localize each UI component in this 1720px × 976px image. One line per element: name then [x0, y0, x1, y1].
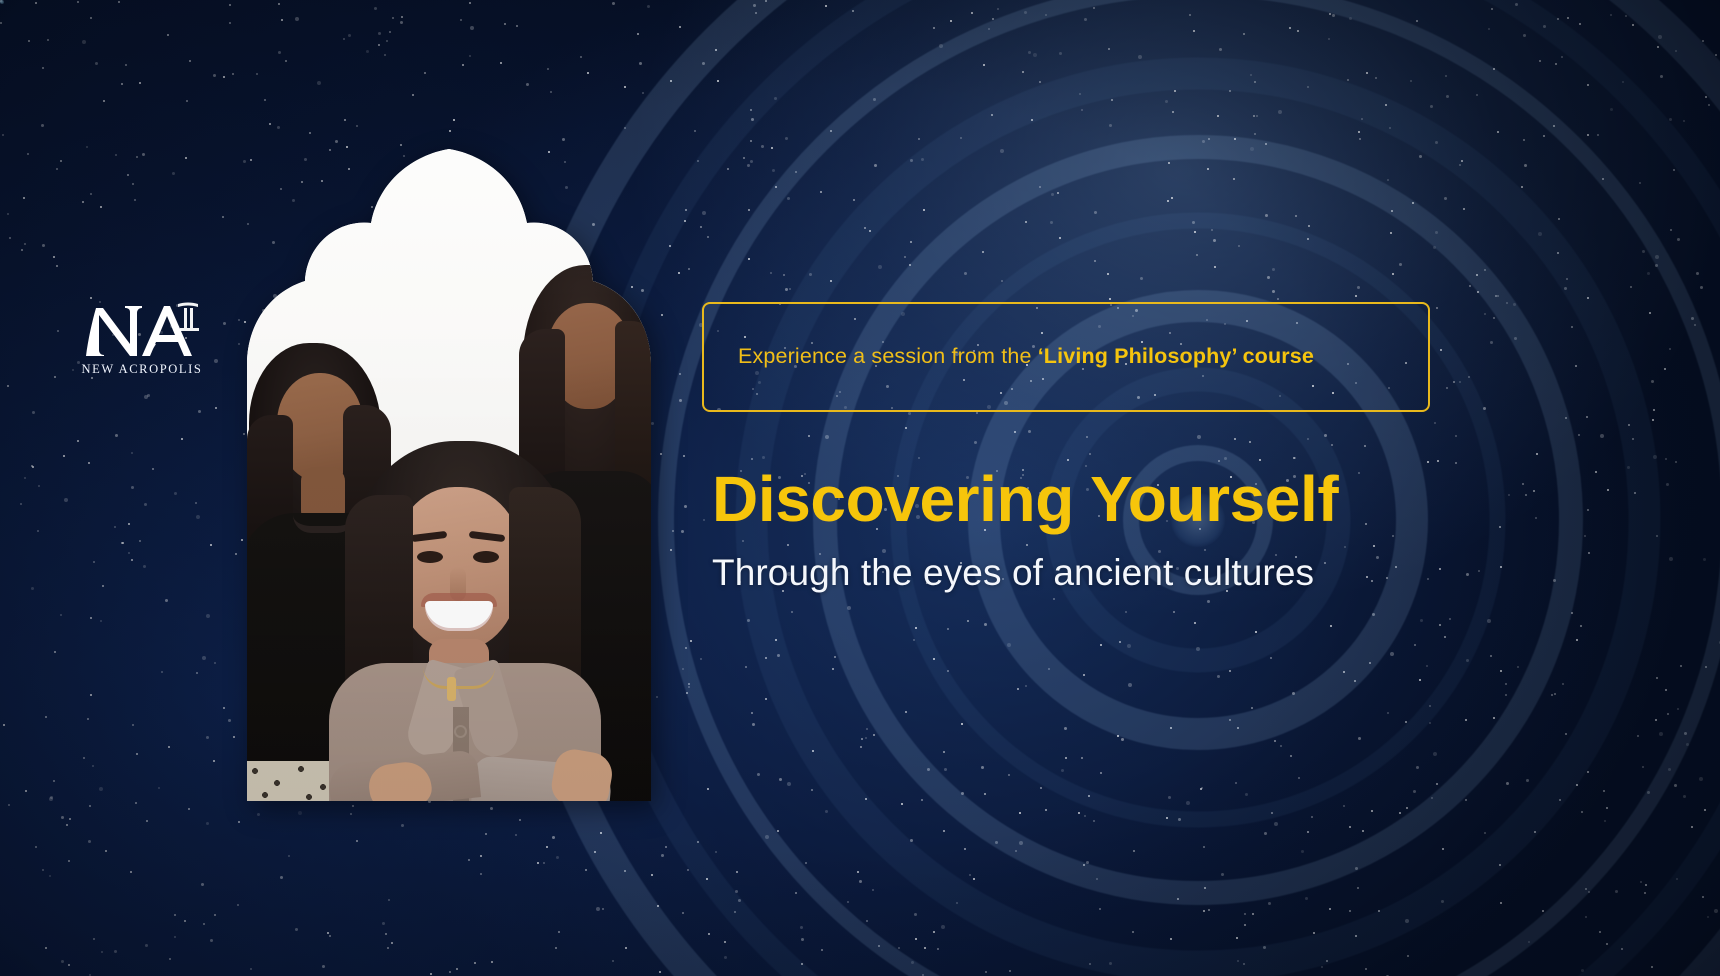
person-center-pendant [447, 677, 456, 701]
page-title: Discovering Yourself [712, 462, 1338, 536]
na-monogram-icon [72, 300, 212, 358]
person-center-button-1 [454, 725, 467, 738]
new-acropolis-logo: NEW ACROPOLIS [72, 300, 212, 377]
person-center-eye-left [417, 551, 443, 563]
person-center-eye-right [473, 551, 499, 563]
logo-wordmark: NEW ACROPOLIS [72, 362, 212, 377]
promo-text-column: Experience a session from the ‘Living Ph… [702, 0, 1442, 976]
promo-banner: NEW ACROPOLIS [0, 0, 1720, 976]
course-callout-highlight: ‘Living Philosophy’ course [1038, 344, 1314, 368]
course-callout-prefix: Experience a session from the [738, 344, 1038, 368]
course-callout-box: Experience a session from the ‘Living Ph… [702, 302, 1430, 412]
speakers-photo [247, 115, 651, 801]
person-center-necklace-chain [423, 667, 495, 689]
photo-arch-clip [247, 115, 651, 801]
course-callout-text: Experience a session from the ‘Living Ph… [738, 344, 1314, 369]
page-subtitle: Through the eyes of ancient cultures [712, 552, 1314, 594]
